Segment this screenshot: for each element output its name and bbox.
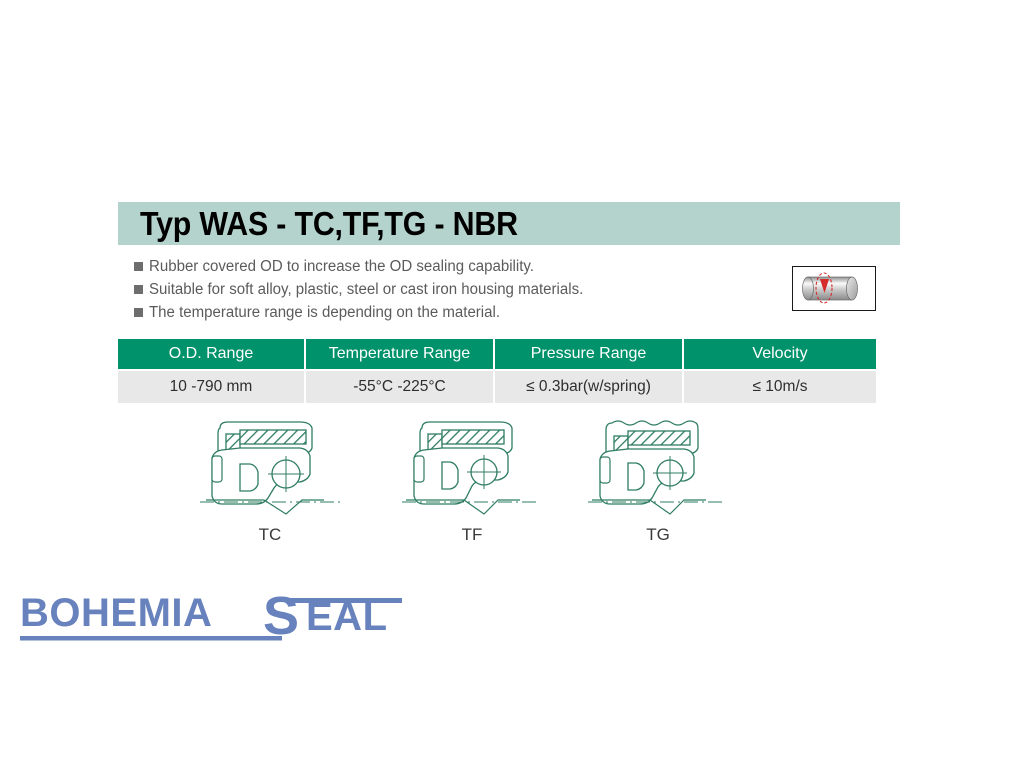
bullet-square-icon	[134, 308, 143, 317]
bohemia-seal-logo: BOHEMIA S EAL	[18, 586, 418, 644]
seal-diagram-tc: TC	[190, 418, 350, 553]
table-header-cell-pressure-range: Pressure Range	[495, 339, 684, 369]
table-header-row: O.D. Range Temperature Range Pressure Ra…	[118, 339, 876, 369]
list-item-label: Rubber covered OD to increase the OD sea…	[149, 256, 534, 277]
bullet-square-icon	[134, 285, 143, 294]
list-item: The temperature range is depending on th…	[134, 302, 774, 325]
feature-bullet-list: Rubber covered OD to increase the OD sea…	[134, 256, 774, 325]
table-header-cell-velocity: Velocity	[684, 339, 876, 369]
table-row: 10 -790 mm -55°C -225°C ≤ 0.3bar(w/sprin…	[118, 371, 876, 403]
list-item: Suitable for soft alloy, plastic, steel …	[134, 279, 774, 302]
bullet-square-icon	[134, 262, 143, 271]
list-item: Rubber covered OD to increase the OD sea…	[134, 256, 774, 279]
svg-text:S: S	[263, 586, 299, 644]
table-header-cell-od-range: O.D. Range	[118, 339, 306, 369]
table-cell-temperature-range: -55°C -225°C	[306, 371, 495, 403]
table-cell-velocity: ≤ 10m/s	[684, 371, 876, 403]
table-header-cell-temperature-range: Temperature Range	[306, 339, 495, 369]
table-cell-od-range: 10 -790 mm	[118, 371, 306, 403]
page-title-band: Typ WAS - TC,TF,TG - NBR	[118, 202, 900, 245]
svg-text:BOHEMIA: BOHEMIA	[20, 591, 212, 635]
seal-label-tf: TF	[392, 525, 552, 545]
seal-diagram-tf: TF	[392, 418, 552, 553]
page-title: Typ WAS - TC,TF,TG - NBR	[140, 205, 518, 243]
seal-label-tg: TG	[578, 525, 738, 545]
specification-table: O.D. Range Temperature Range Pressure Ra…	[118, 339, 876, 403]
list-item-label: The temperature range is depending on th…	[149, 302, 500, 323]
table-cell-pressure-range: ≤ 0.3bar(w/spring)	[495, 371, 684, 403]
rotating-shaft-icon	[792, 266, 876, 311]
seal-diagram-tg: TG	[578, 418, 738, 553]
seal-label-tc: TC	[190, 525, 350, 545]
seal-diagram-group: TC TF	[0, 418, 1024, 553]
list-item-label: Suitable for soft alloy, plastic, steel …	[149, 279, 583, 300]
